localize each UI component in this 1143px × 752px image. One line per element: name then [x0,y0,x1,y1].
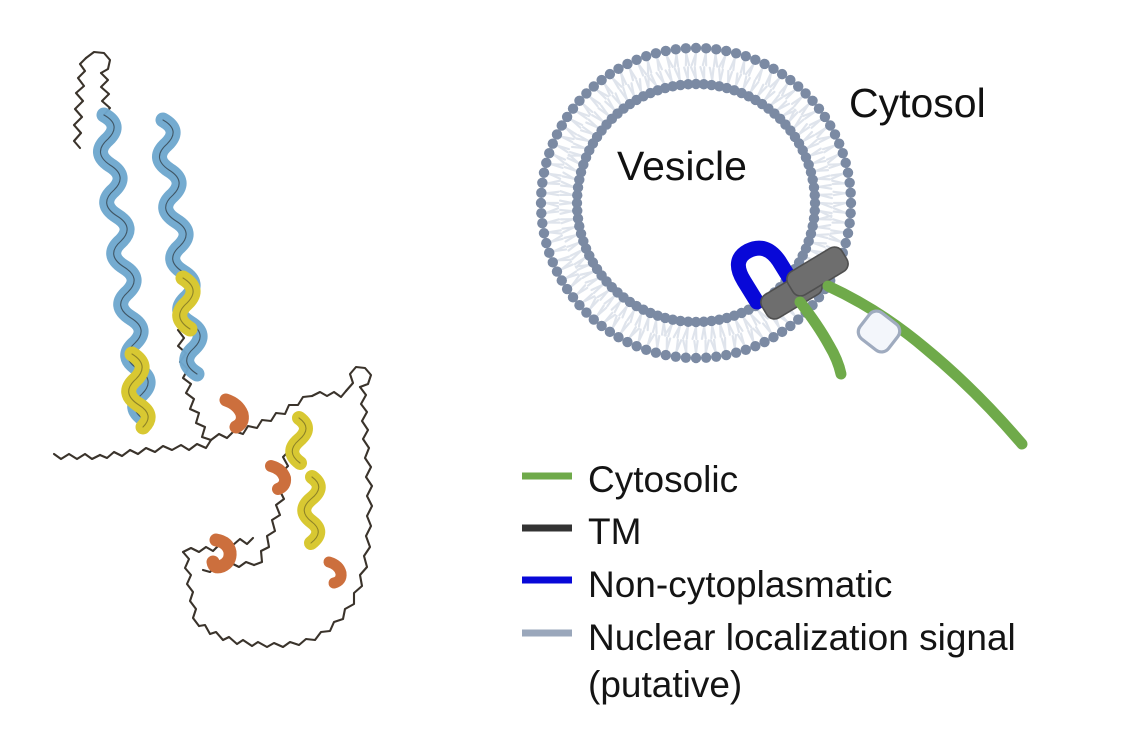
helix-ribbon-right [159,120,200,374]
turn-segment-orange-3 [213,540,230,567]
nls-marker [855,307,904,355]
helix-segment-gold-upper [180,278,193,329]
turn-segment-orange-1 [226,400,242,427]
legend-item-non-cytoplasmatic[interactable]: Non-cytoplasmatic [522,564,892,605]
legend-label-nls: Nuclear localization signal [588,617,1016,658]
figure-canvas: Vesicle Cytosol Cytosolic TM Non-cytopla… [0,0,1143,752]
cytosolic-tail-short [800,302,841,374]
label-cytosol: Cytosol [849,80,986,126]
helix-segment-gold-mid-lower [304,477,319,543]
turn-segment-orange-4 [329,562,341,583]
turn-segment-orange-2 [271,466,285,489]
predicted-protein-structure [54,52,372,647]
legend-label-non-cytoplasmatic: Non-cytoplasmatic [588,564,892,605]
topology-legend: Cytosolic TM Non-cytoplasmatic Nuclear l… [522,459,1016,705]
legend-item-nls[interactable]: Nuclear localization signal (putative) [522,617,1016,705]
figure-root: Vesicle Cytosol Cytosolic TM Non-cytopla… [0,0,1143,752]
vesicle-membrane-topology: Vesicle Cytosol [536,43,1022,444]
legend-item-tm[interactable]: TM [522,511,641,552]
legend-label-nls-putative: (putative) [588,664,742,705]
legend-label-cytosolic: Cytosolic [588,459,738,500]
legend-item-cytosolic[interactable]: Cytosolic [522,459,738,500]
helix-segment-gold-mid-upper [292,418,306,463]
label-vesicle: Vesicle [617,143,747,189]
legend-label-tm: TM [588,511,641,552]
cytosolic-tail-long [828,286,1022,444]
